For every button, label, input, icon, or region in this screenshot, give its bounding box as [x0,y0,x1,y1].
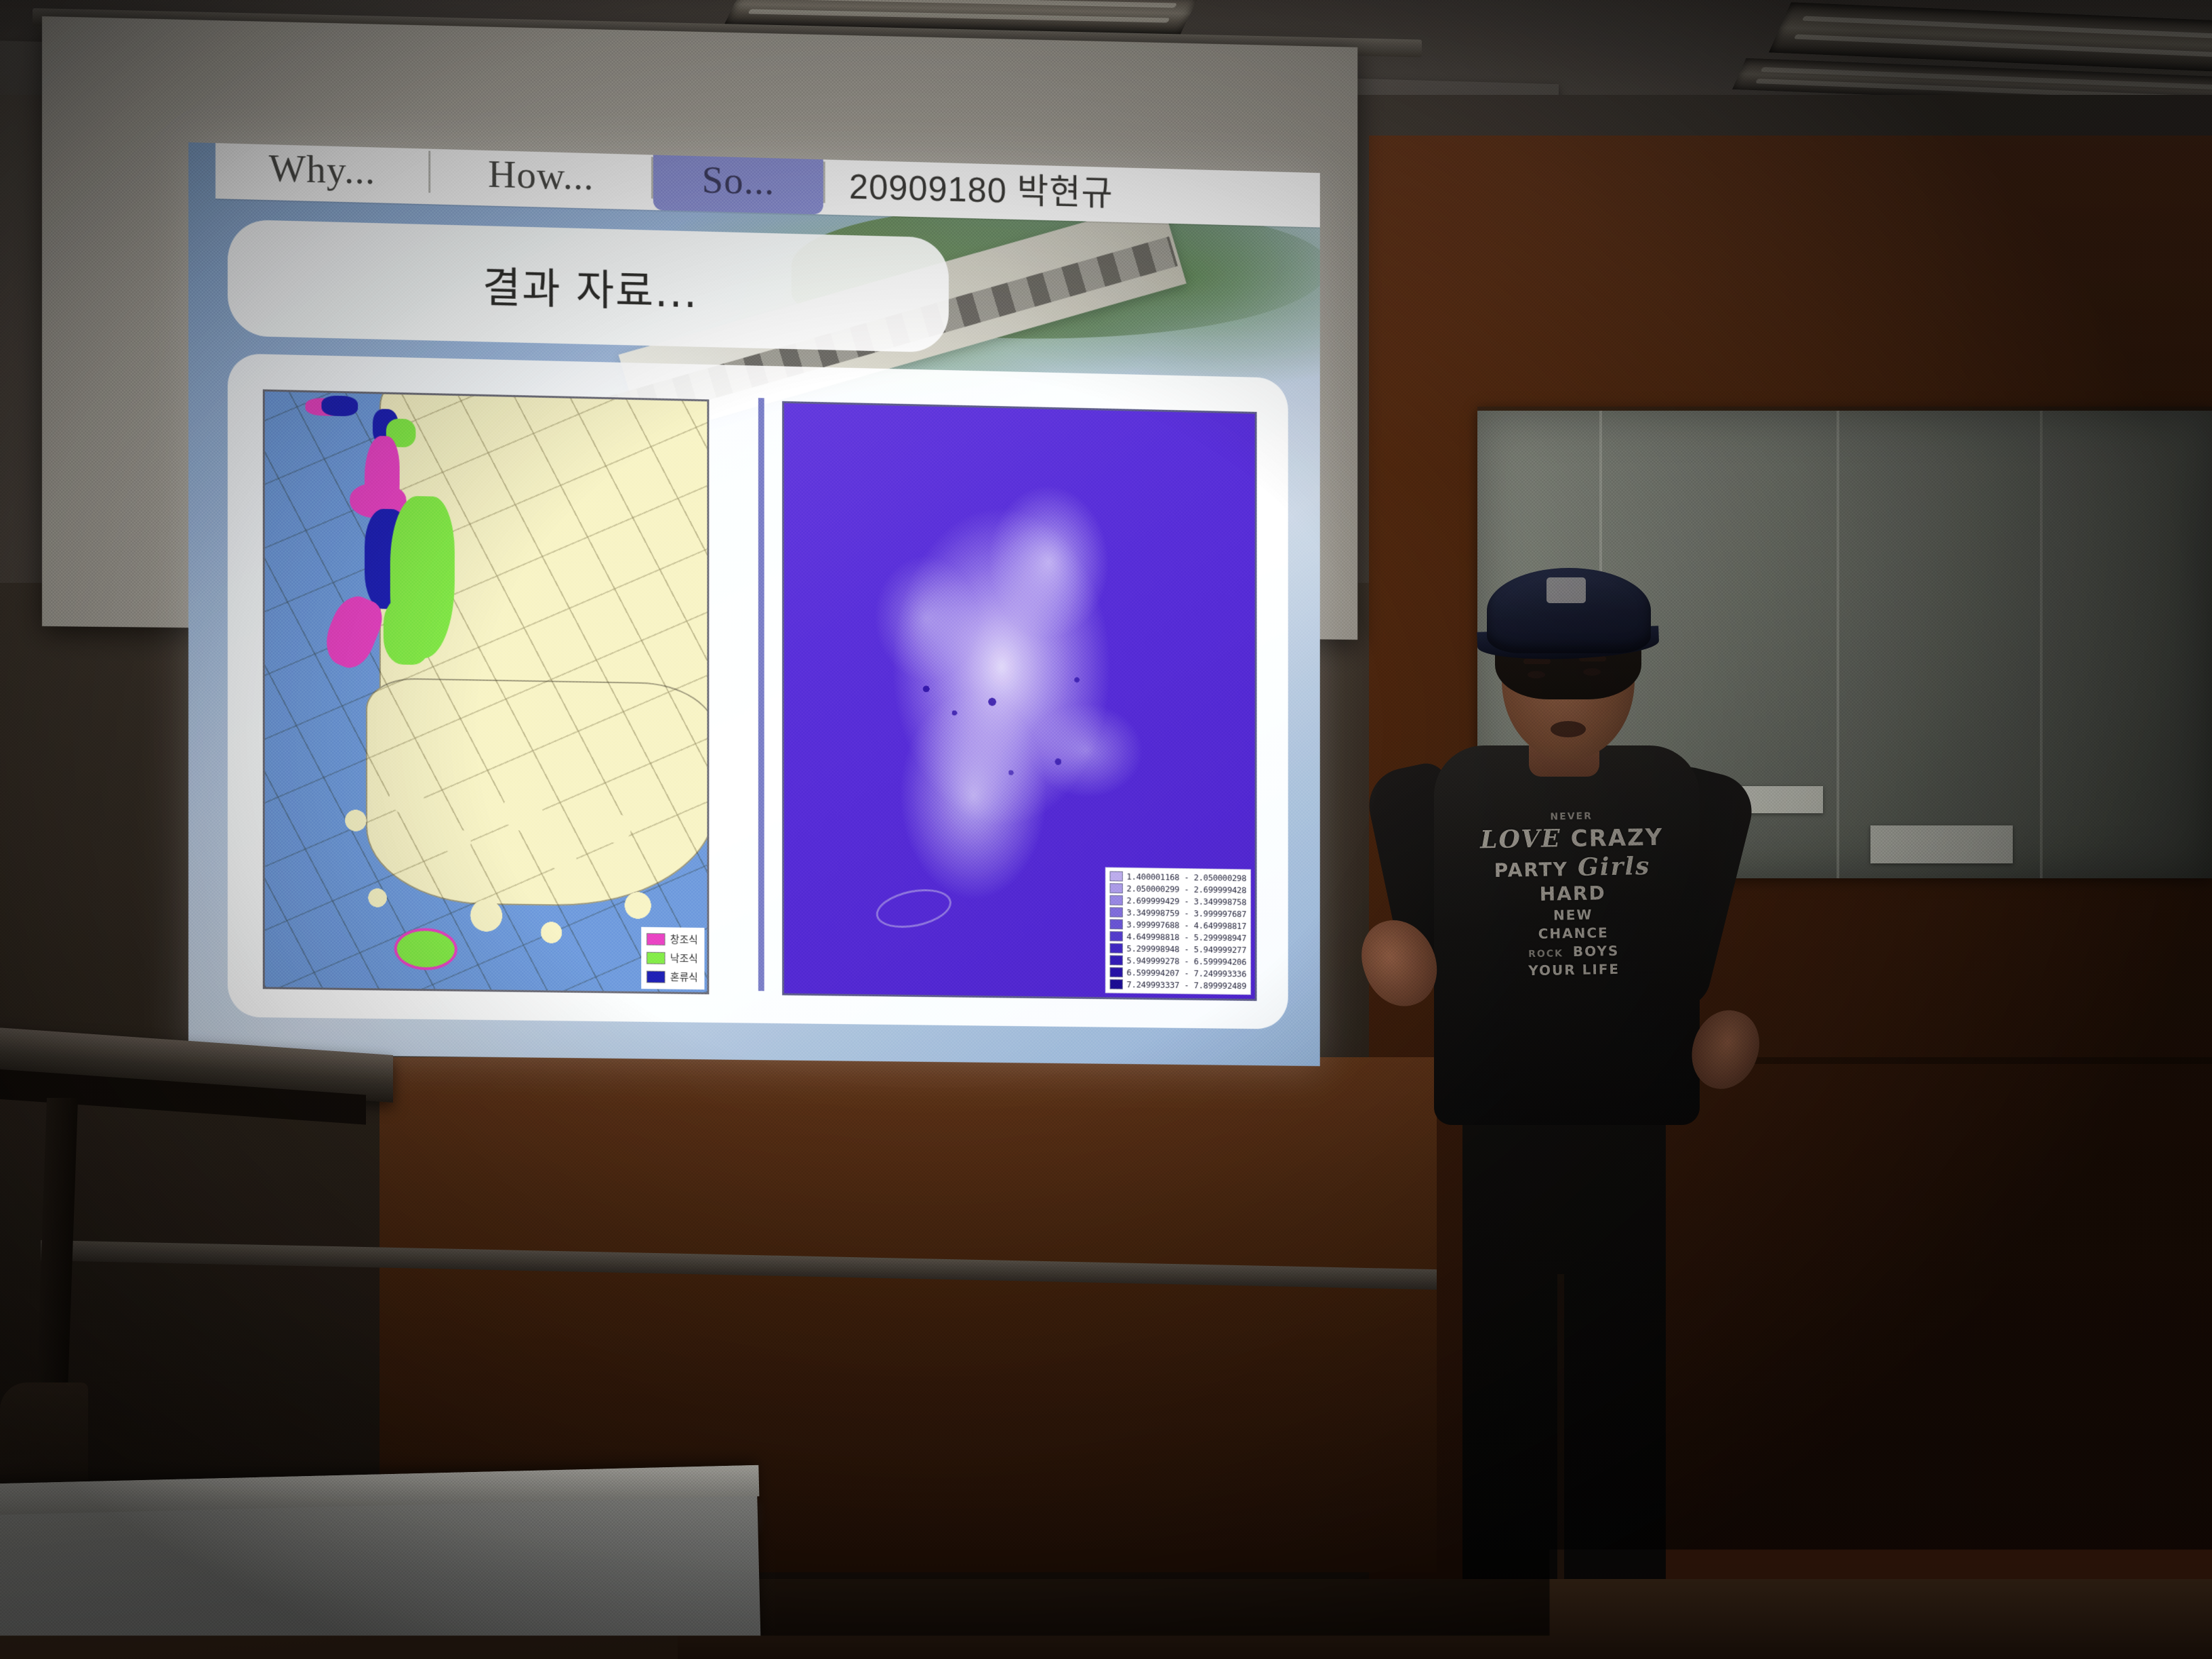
tshirt-line: LOVE [1480,826,1561,852]
map-jeju-island [394,928,457,970]
legend-row: 3.349998759 - 3.999997687 [1109,907,1246,919]
tshirt-line: HARD [1540,884,1606,904]
legend-label: 7.249993337 - 7.899992489 [1127,979,1247,991]
legend-swatch [1109,883,1122,893]
presenter-eye [1583,668,1601,676]
legend-swatch [1109,931,1122,941]
tidal-range-raster-map: 1.400001168 - 2.050000298 2.050000299 - … [782,401,1256,1001]
legend-label: 2.699999429 - 3.349998758 [1127,895,1247,907]
legend-row: 1.400001168 - 2.050000298 [1109,872,1246,884]
legend-row: 창조식 [647,932,698,947]
legend-swatch [1109,943,1122,954]
tshirt-line: NEW [1553,907,1593,922]
legend-label: 창조식 [670,932,698,946]
map-islands [312,771,674,979]
tshirt-line: Girls [1578,854,1651,880]
nav-tab-why[interactable]: Why... [216,142,428,204]
legend-label: 낙조식 [670,951,698,965]
floor [678,1579,2212,1659]
legend-label: 1.400001168 - 2.050000298 [1127,872,1247,883]
tshirt-line: BOYS [1573,944,1620,958]
legend-swatch [1109,907,1122,918]
legend-row: 2.699999429 - 3.349998758 [1109,895,1246,907]
legend-label: 3.349998759 - 3.999997687 [1127,907,1247,919]
nav-tab-so-label: So... [702,157,775,203]
photo-scene: Why... How... So... 20909180 박현규 결과 자료..… [0,0,2212,1659]
slide-body-panel: 창조식 낙조식 혼류식 1.400 [228,353,1288,1029]
tshirt-line: NEVER [1550,811,1593,821]
legend-row: 5.949999278 - 6.599994206 [1109,955,1246,966]
korea-tidal-type-map: 창조식 낙조식 혼류식 [263,389,710,994]
legend-swatch-green [647,951,665,964]
projected-slide: Why... How... So... 20909180 박현규 결과 자료..… [188,142,1320,1066]
legend-row: 4.649998818 - 5.299998947 [1109,931,1246,943]
legend-swatch [1109,895,1122,905]
legend-row: 6.599994207 - 7.249993336 [1109,967,1246,979]
panel-divider [758,398,764,991]
legend-label: 6.599994207 - 7.249993336 [1127,967,1247,979]
legend-label: 5.299998948 - 5.949999277 [1127,943,1247,955]
legend-swatch [1109,872,1122,882]
zone-navy [321,395,358,416]
legend-label: 혼류식 [670,970,698,984]
right-map-legend: 1.400001168 - 2.050000298 2.050000299 - … [1105,867,1251,996]
legend-label: 5.949999278 - 6.599994206 [1127,956,1247,967]
legend-row: 3.999997688 - 4.649998817 [1109,919,1246,930]
tshirt-line: CHANCE [1538,926,1609,941]
tshirt-line: CRAZY [1570,826,1663,851]
presenter-mouth [1551,721,1586,737]
slide-title-pill: 결과 자료... [228,219,949,352]
zone-green [384,596,432,665]
nav-tab-why-label: Why... [269,145,376,193]
legend-swatch-navy [647,970,665,983]
slide-title: 결과 자료... [483,253,698,319]
legend-label: 2.050000299 - 2.699999428 [1127,884,1247,895]
legend-swatch-magenta [647,933,665,945]
legend-row: 2.050000299 - 2.699999428 [1109,883,1246,895]
left-map-legend: 창조식 낙조식 혼류식 [641,927,705,989]
legend-label: 4.649998818 - 5.299998947 [1127,931,1247,943]
presenter-eyebrow [1523,659,1551,664]
legend-row: 혼류식 [647,969,698,984]
slide-author-label: 20909180 박현규 [849,158,1113,215]
legend-swatch [1109,979,1122,989]
tshirt-line: YOUR LIFE [1528,962,1620,977]
tshirt-print: NEVER LOVE CRAZY PARTY Girls HARD NEW CH… [1470,810,1678,1078]
tshirt-line: ROCK [1528,949,1563,959]
tshirt-line: PARTY [1494,860,1569,880]
cap-logo [1547,577,1586,603]
legend-label: 3.999997688 - 4.649998817 [1127,920,1247,931]
presenter: NEVER LOVE CRAZY PARTY Girls HARD NEW CH… [1376,542,1864,1659]
legend-swatch [1109,919,1122,929]
presenter-eye [1528,671,1545,678]
legend-row: 낙조식 [647,951,698,966]
nav-tab-how-label: How... [488,150,594,199]
legend-row: 5.299998948 - 5.949999277 [1109,943,1246,955]
legend-swatch [1109,967,1122,977]
legend-swatch [1109,955,1122,965]
legend-row: 7.249993337 - 7.899992489 [1109,979,1246,991]
